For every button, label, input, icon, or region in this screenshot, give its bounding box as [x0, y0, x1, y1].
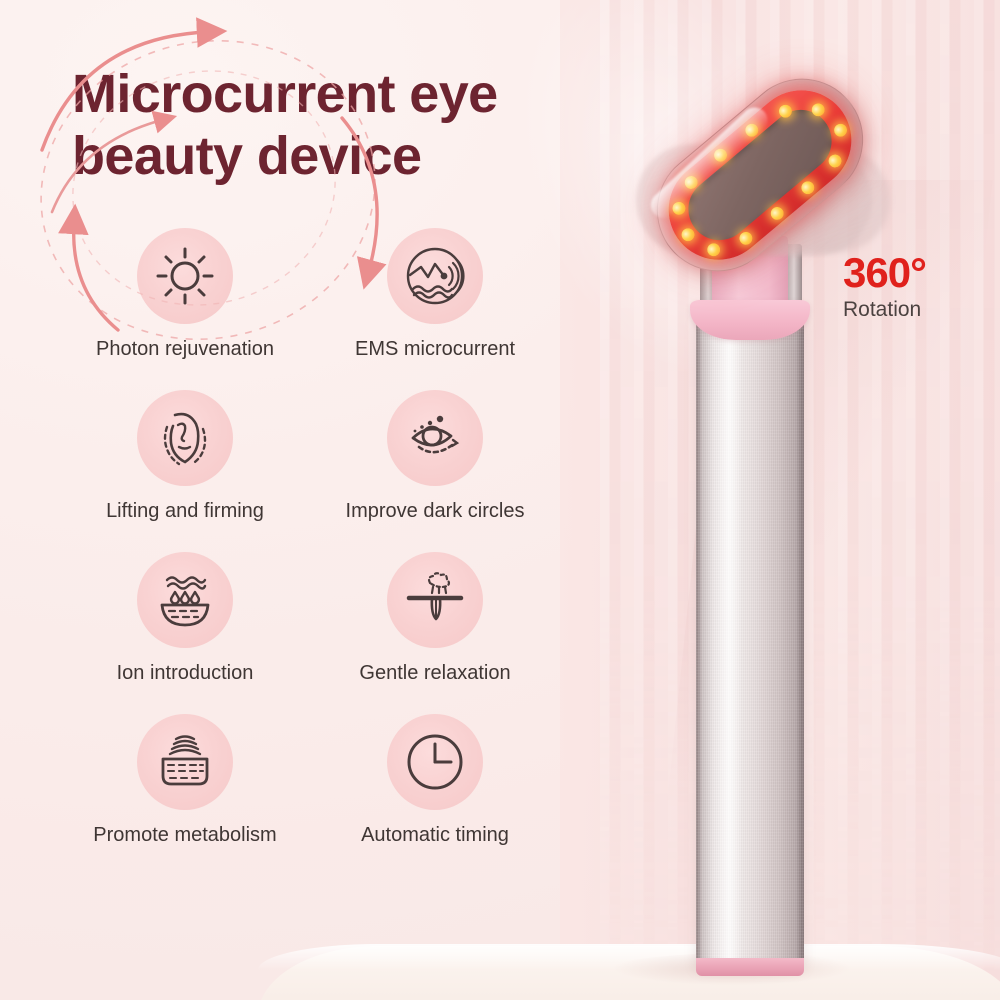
rotation-degrees: 360°	[843, 252, 926, 294]
feature-label: Automatic timing	[361, 824, 509, 846]
rotation-arrow-right	[342, 118, 377, 270]
rotation-arcs	[0, 0, 450, 420]
feature-icon-badge	[387, 552, 483, 648]
feature-item-automatic-timing: Automatic timing	[310, 714, 560, 846]
feature-item-promote-metabolism: Promote metabolism	[60, 714, 310, 846]
feature-label: Improve dark circles	[346, 500, 525, 522]
feature-item-ion-introduction: Ion introduction	[60, 552, 310, 684]
rotation-dashed-orbit-inner	[48, 44, 360, 333]
clock-icon	[404, 731, 466, 793]
handle-texture	[696, 318, 804, 968]
feature-icon-badge	[137, 552, 233, 648]
rotation-arrow-left	[74, 224, 118, 330]
device-base-pink	[696, 958, 804, 976]
rotation-callout: 360° Rotation	[843, 252, 926, 322]
skin-waves-icon	[153, 732, 217, 792]
feature-label: Promote metabolism	[93, 824, 276, 846]
feature-label: Ion introduction	[117, 662, 254, 684]
feature-row: Promote metabolism Automatic timing	[60, 714, 560, 846]
device-handle	[696, 318, 804, 968]
handle-highlight	[716, 318, 742, 968]
feature-label: Lifting and firming	[106, 500, 264, 522]
rotation-dashed-orbit	[9, 6, 407, 374]
product-marketing-image: Microcurrent eye beauty device	[0, 0, 1000, 1000]
rotation-arrow-inner-top	[52, 120, 162, 212]
absorption-droplets-icon	[153, 571, 217, 629]
rotation-label: Rotation	[843, 298, 926, 322]
rotation-arrow-top	[42, 32, 207, 150]
feature-icon-badge	[137, 714, 233, 810]
feature-item-gentle-relaxation: Gentle relaxation	[310, 552, 560, 684]
feature-icon-badge	[387, 714, 483, 810]
feature-label: Gentle relaxation	[359, 662, 510, 684]
feature-row: Ion introduction	[60, 552, 560, 684]
pore-steam-icon	[403, 570, 467, 630]
